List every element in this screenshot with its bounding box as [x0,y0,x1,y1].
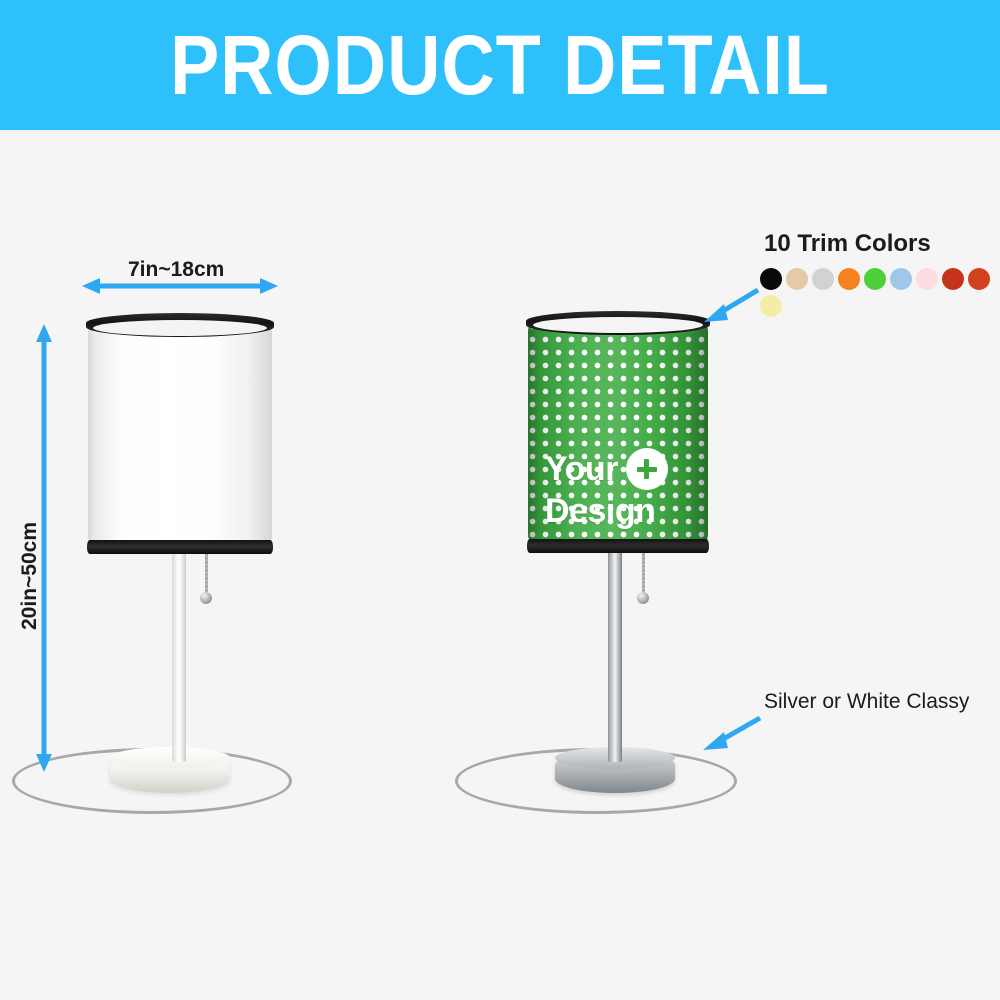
trim-colors-pointer-arrow [700,284,764,328]
trim-swatch-dark-red[interactable] [942,268,964,290]
trim-colors-title: 10 Trim Colors [764,230,931,258]
white-lamp-pull-chain [205,553,208,597]
design-logo-row-2: Design [545,494,668,528]
trim-swatch-orange[interactable] [838,268,860,290]
product-detail-page: PRODUCT DETAIL [0,0,1000,1000]
trim-swatch-tan[interactable] [786,268,808,290]
trim-swatch-light-gray[interactable] [812,268,834,290]
white-lamp-base-top [110,747,230,769]
trim-swatch-pale-yellow[interactable] [760,295,782,317]
white-shade-surface [88,324,272,546]
white-lamp-chain-ball [200,592,212,604]
trim-swatch-green[interactable] [864,268,886,290]
green-lamp-chain-ball [637,592,649,604]
white-lamp-shade-top-inner [93,320,267,336]
trim-swatch-black[interactable] [760,268,782,290]
design-word-your: Your [545,452,618,486]
white-lamp-shade [88,324,272,546]
trim-swatch-light-blue[interactable] [890,268,912,290]
height-dimension-arrow [30,322,58,774]
green-lamp: Your Design [440,0,780,1000]
trim-swatch-pink[interactable] [916,268,938,290]
trim-swatch-red-orange[interactable] [968,268,990,290]
green-lamp-pole [608,550,622,762]
width-dimension-arrow [80,272,280,300]
green-lamp-pull-chain [642,553,645,597]
design-logo-row-1: Your [545,448,668,490]
design-word-design: Design [545,494,655,528]
green-lamp-bottom-trim [527,539,709,553]
base-callout-arrow [698,712,766,756]
green-lamp-shade-top-inner [533,317,703,333]
base-callout-label: Silver or White Classy [764,690,969,714]
plus-icon [626,448,668,490]
your-design-logo: Your Design [545,448,668,528]
white-lamp-pole [172,550,186,762]
trim-color-swatches[interactable] [760,268,998,317]
white-lamp-bottom-trim [87,540,273,554]
